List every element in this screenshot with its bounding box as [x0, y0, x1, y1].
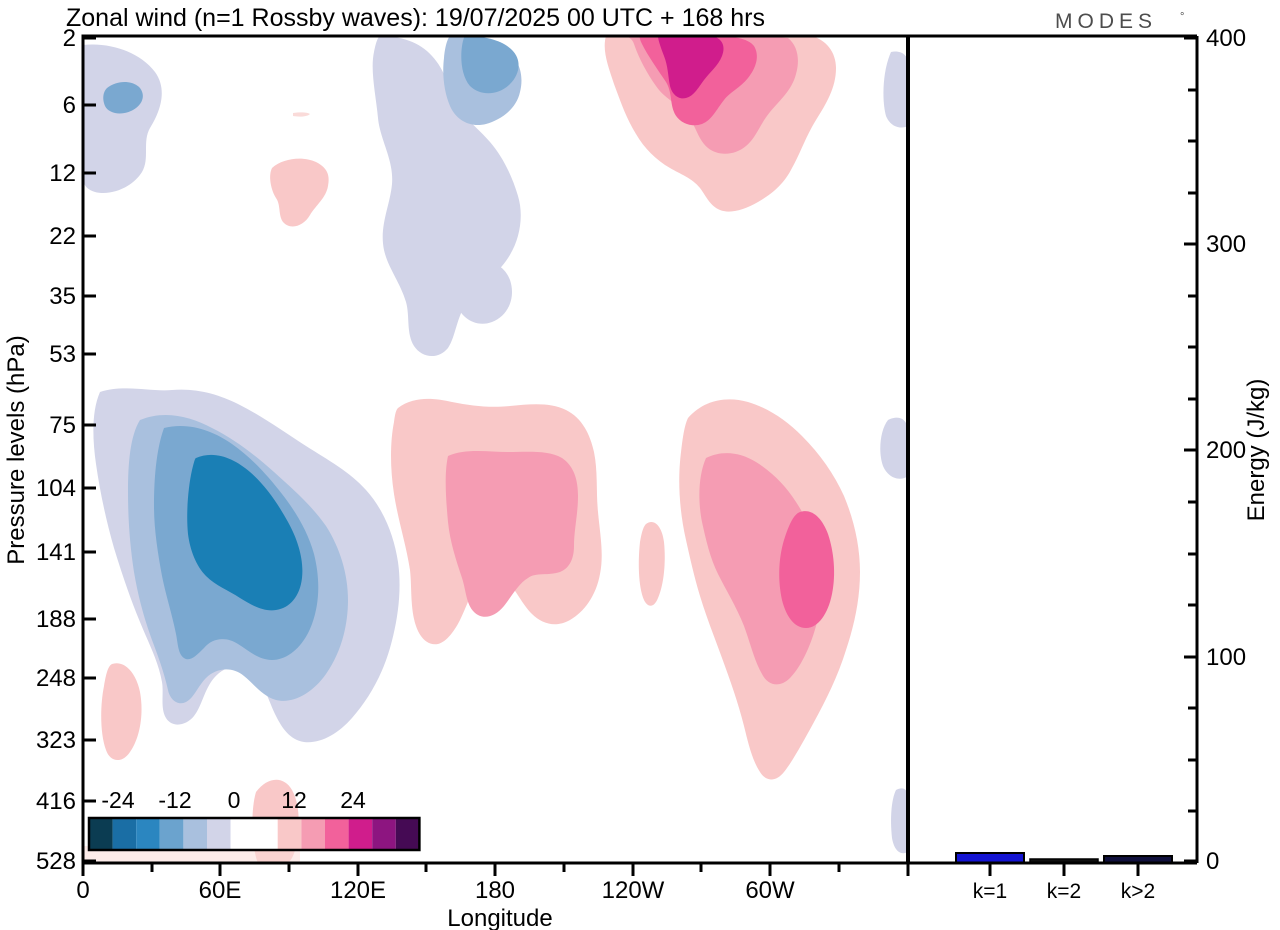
- longitude-tick-180: 180: [475, 877, 515, 904]
- colorbar-swatch-0: [89, 818, 113, 850]
- pressure-tick-53: 53: [49, 341, 76, 368]
- energy-axis-label: Energy (J/kg): [1243, 379, 1270, 522]
- figure-title: Zonal wind (n=1 Rossby waves): 19/07/202…: [66, 4, 765, 32]
- pressure-tick-323: 323: [36, 727, 76, 754]
- longitude-tick-60E: 60E: [199, 877, 242, 904]
- colorbar-label-neg24: -24: [101, 787, 134, 813]
- pressure-axis-label: Pressure levels (hPa): [3, 335, 30, 564]
- longitude-axis-label: Longitude: [447, 905, 552, 930]
- modes-trademark-mark: °: [1180, 11, 1184, 23]
- colorbar-swatch-9: [325, 818, 349, 850]
- contour-panel: [83, 36, 908, 863]
- energy-tick-0: 0: [1206, 848, 1219, 875]
- bar-label-kgt2: k>2: [1121, 880, 1155, 903]
- colorbar-swatches: [89, 818, 419, 850]
- colorbar-swatch-2: [136, 818, 160, 850]
- longitude-tick-0: 0: [76, 877, 89, 904]
- colorbar-label-neg12: -12: [158, 787, 191, 813]
- pressure-tick-188: 188: [36, 606, 76, 633]
- pressure-tick-2: 2: [63, 25, 76, 52]
- pressure-tick-12: 12: [49, 160, 76, 187]
- colorbar-label-pos12: 12: [281, 787, 307, 813]
- pressure-tick-6: 6: [63, 92, 76, 119]
- colorbar-swatch-10: [349, 818, 373, 850]
- pressure-tick-248: 248: [36, 665, 76, 692]
- bar-panel-background: [908, 36, 1197, 863]
- energy-tick-400: 400: [1206, 25, 1246, 52]
- pressure-tick-416: 416: [36, 788, 76, 815]
- pressure-tick-104: 104: [36, 475, 76, 502]
- colorbar-swatch-12: [396, 818, 420, 850]
- energy-tick-200: 200: [1206, 437, 1246, 464]
- energy-bar-panel: k=1 k=2 k>2: [908, 36, 1197, 903]
- colorbar-swatch-11: [372, 818, 396, 850]
- colorbar-swatch-1: [113, 818, 137, 850]
- pressure-tick-35: 35: [49, 283, 76, 310]
- longitude-tick-60W: 60W: [745, 877, 795, 904]
- energy-tick-100: 100: [1206, 644, 1246, 671]
- pressure-tick-22: 22: [49, 223, 76, 250]
- zonal-wind-cross-section-figure: Zonal wind (n=1 Rossby waves): 19/07/202…: [0, 0, 1280, 930]
- colorbar-swatch-4: [183, 818, 207, 850]
- colorbar-label-zero: 0: [228, 787, 241, 813]
- contour-neg-blob-mid-35hPa: [455, 260, 512, 324]
- colorbar-swatch-5: [207, 818, 231, 850]
- colorbar-swatch-3: [160, 818, 184, 850]
- modes-wordmark: MODES: [1055, 10, 1157, 33]
- bar-label-k1: k=1: [973, 880, 1007, 903]
- colorbar-label-pos24: 24: [340, 787, 366, 813]
- pressure-tick-141: 141: [36, 539, 76, 566]
- pressure-tick-75: 75: [49, 412, 76, 439]
- colorbar-swatch-6: [231, 818, 278, 850]
- chart-root: Zonal wind (n=1 Rossby waves): 19/07/202…: [0, 0, 1280, 930]
- contour-neg-small-right-low: [891, 788, 908, 853]
- colorbar-swatch-7: [278, 818, 302, 850]
- pressure-tick-528: 528: [36, 848, 76, 875]
- bar-label-k2: k=2: [1047, 880, 1081, 903]
- colorbar-swatch-8: [301, 818, 325, 850]
- longitude-tick-120E: 120E: [330, 877, 386, 904]
- longitude-tick-120W: 120W: [602, 877, 665, 904]
- energy-tick-300: 300: [1206, 231, 1246, 258]
